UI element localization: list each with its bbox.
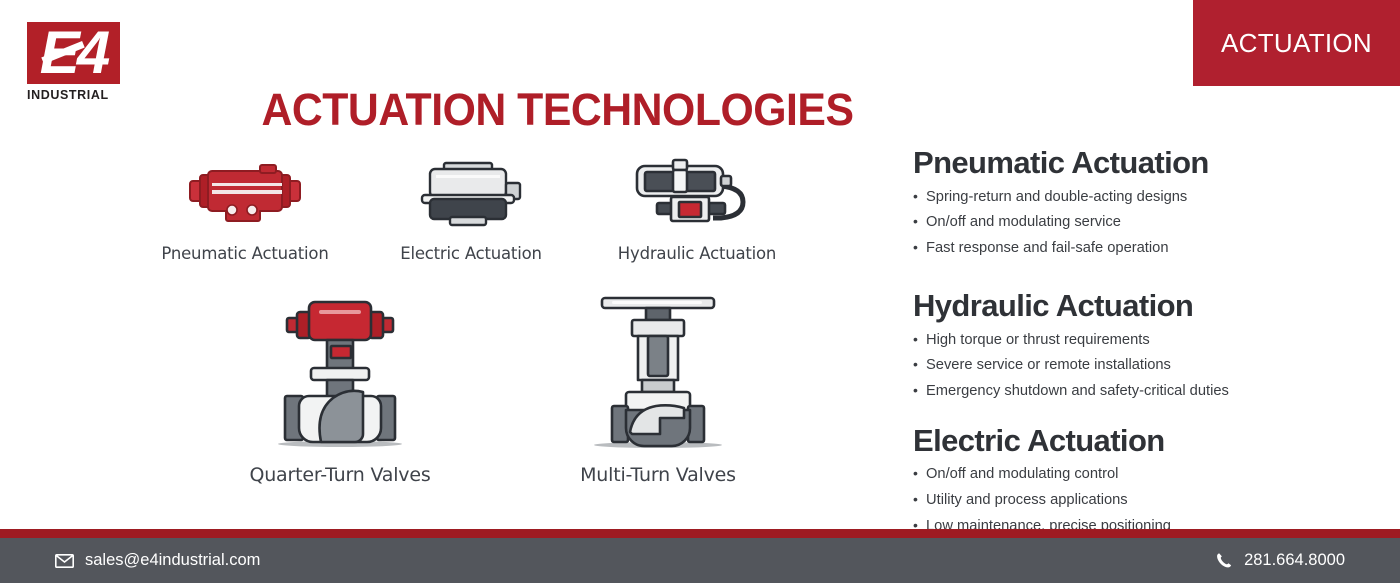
spec-block-pneumatic: Pneumatic Actuation Spring-return and do… [913,146,1383,267]
spec-block-electric: Electric Actuation On/off and modulating… [913,424,1383,545]
section-badge: ACTUATION [1193,0,1400,86]
footer-phone[interactable]: 281.664.8000 [1216,551,1345,570]
page-title-text: ACTUATION TECHNOLOGIES [262,84,1139,136]
spec-bullet: On/off and modulating service [913,215,1383,241]
spec-bullet: On/off and modulating control [913,467,1383,493]
spec-bullet: Severe service or remote installations [913,358,1383,384]
illustration-electric: Electric Actuation [376,148,566,263]
spec-bullet: Fast response and fail-safe operation [913,241,1383,267]
footer-email[interactable]: sales@e4industrial.com [55,551,260,570]
hydraulic-actuator-icon [629,148,765,236]
page-title: ACTUATION TECHNOLOGIES [35,84,1365,136]
footer-accent-rule [0,529,1400,538]
spec-heading: Pneumatic Actuation [913,146,1383,181]
illustration-caption: Electric Actuation [400,244,542,263]
slide-root: ACTUATION E4 INDUSTRIAL ACTUATION TECHNO… [0,0,1400,583]
multi-turn-valve-icon [568,288,748,454]
footer-email-text: sales@e4industrial.com [85,551,260,570]
footer-bar: sales@e4industrial.com 281.664.8000 [0,538,1400,583]
illustration-caption: Pneumatic Actuation [161,244,328,263]
illustration-pneumatic: Pneumatic Actuation [150,148,340,263]
spec-column: Pneumatic Actuation Spring-return and do… [913,146,1383,544]
logo-mark: E4 [27,22,120,84]
spec-bullet: High torque or thrust requirements [913,333,1383,359]
illustration-gallery: Pneumatic Actuation [150,148,850,523]
spec-heading: Electric Actuation [913,424,1383,459]
spec-block-hydraulic: Hydraulic Actuation High torque or thrus… [913,289,1383,410]
spec-bullet: Utility and process applications [913,493,1383,519]
envelope-icon [55,554,74,568]
illustration-caption: Hydraulic Actuation [618,244,776,263]
pneumatic-actuator-icon [182,148,308,236]
electric-actuator-icon [408,148,534,236]
illustration-row-top: Pneumatic Actuation [150,148,850,263]
spec-heading: Hydraulic Actuation [913,289,1383,324]
spec-bullet: Spring-return and double-acting designs [913,190,1383,216]
illustration-multi-turn: Multi-Turn Valves [538,288,778,486]
illustration-quarter-turn: Quarter-Turn Valves [220,288,460,486]
logo-e4-text: E4 [27,22,120,84]
illustration-row-bottom: Quarter-Turn Valves [220,288,780,486]
footer-phone-text: 281.664.8000 [1244,551,1345,570]
spec-bullet: Emergency shutdown and safety-critical d… [913,384,1383,410]
illustration-caption: Multi-Turn Valves [580,464,736,486]
spec-list: High torque or thrust requirements Sever… [913,333,1383,410]
quarter-turn-valve-icon [249,288,431,454]
illustration-hydraulic: Hydraulic Actuation [602,148,792,263]
phone-icon [1216,552,1233,569]
section-badge-label: ACTUATION [1221,28,1372,59]
spec-list: Spring-return and double-acting designs … [913,190,1383,267]
illustration-caption: Quarter-Turn Valves [249,464,430,486]
